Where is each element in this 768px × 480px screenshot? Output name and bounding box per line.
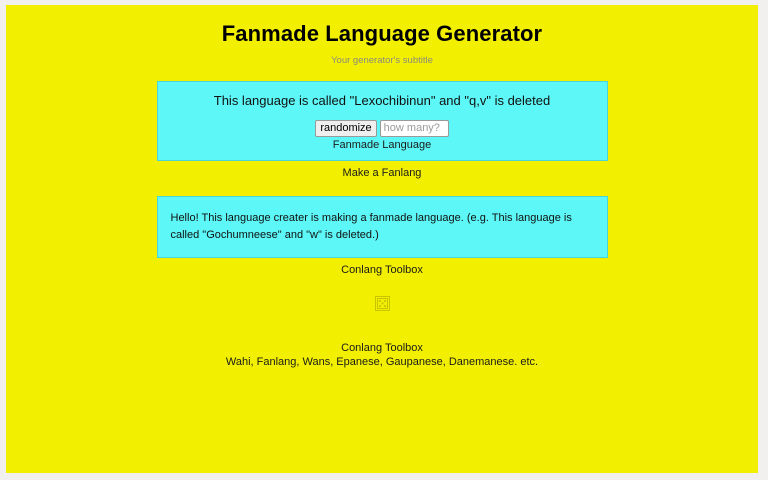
how-many-input[interactable] — [380, 120, 449, 137]
generated-language-output: This language is called "Lexochibinun" a… — [168, 93, 597, 110]
generator-controls: randomize — [168, 120, 597, 137]
conlang-toolbox-label: Conlang Toolbox — [6, 264, 758, 278]
about-panel-text: Hello! This language creater is making a… — [171, 210, 594, 243]
generator-panel: This language is called "Lexochibinun" a… — [157, 81, 608, 162]
make-a-fanlang-label: Make a Fanlang — [6, 167, 758, 181]
page-canvas: Fanmade Language Generator Your generato… — [6, 5, 758, 473]
broken-image-icon — [375, 296, 390, 311]
page-subtitle: Your generator's subtitle — [6, 46, 758, 66]
generator-panel-caption: Fanmade Language — [168, 139, 597, 153]
about-panel: Hello! This language creater is making a… — [157, 196, 608, 258]
footer: Conlang Toolbox Wahi, Fanlang, Wans, Epa… — [6, 341, 758, 370]
randomize-button[interactable]: randomize — [315, 120, 376, 137]
footer-title: Conlang Toolbox — [6, 341, 758, 355]
page-title: Fanmade Language Generator — [6, 5, 758, 46]
footer-examples: Wahi, Fanlang, Wans, Epanese, Gaupanese,… — [6, 355, 758, 369]
